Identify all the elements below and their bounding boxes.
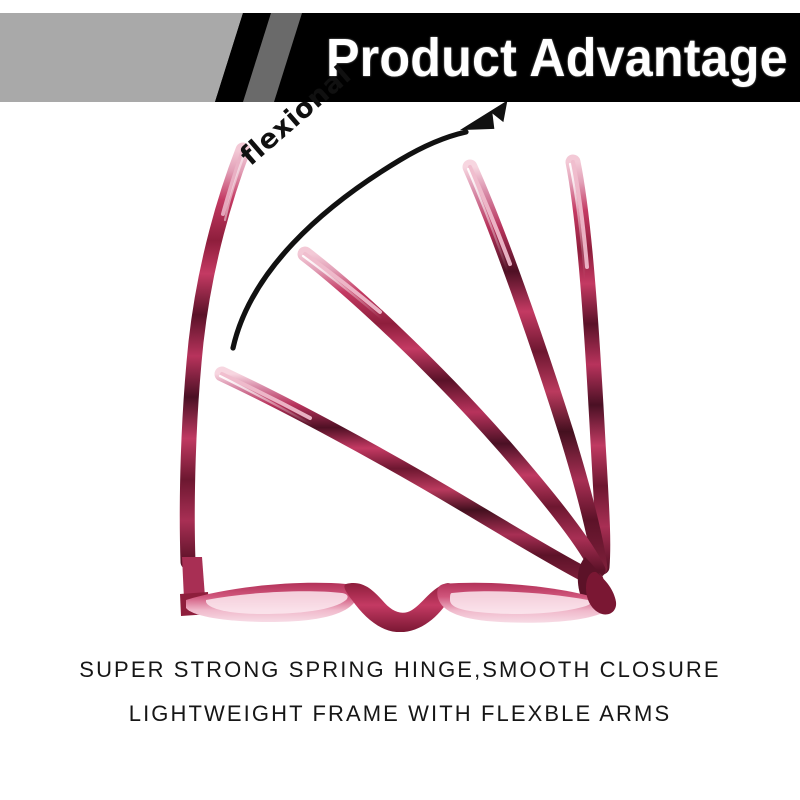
banner-light-gray-stripe [0, 13, 243, 102]
caption-line-1: SUPER STRONG SPRING HINGE,SMOOTH CLOSURE [0, 648, 800, 692]
caption-block: SUPER STRONG SPRING HINGE,SMOOTH CLOSURE… [0, 648, 800, 736]
caption-line-2: LIGHTWEIGHT FRAME WITH FLEXBLE ARMS [0, 692, 800, 736]
temple-arm-group [187, 150, 603, 580]
temple-arm-closed [187, 150, 245, 562]
nose-bridge [344, 583, 453, 632]
glasses-front [180, 557, 616, 632]
header-banner [0, 13, 800, 102]
product-photo [0, 102, 800, 632]
